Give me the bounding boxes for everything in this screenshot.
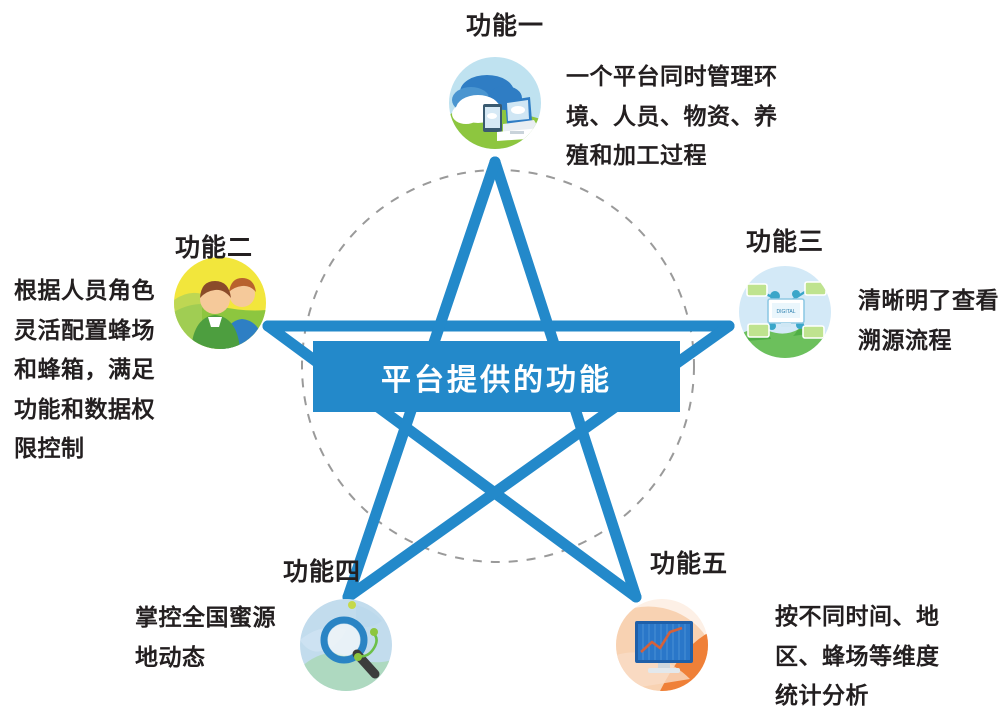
icon-feature-2	[174, 257, 266, 349]
icon-feature-5	[616, 599, 708, 691]
icon-feature-1	[449, 57, 541, 149]
feature-2-desc-line-1: 根据人员角色	[14, 271, 164, 311]
feature-3-desc-line-1: 清晰明了查看	[858, 281, 1007, 321]
feature-4-description: 掌控全国蜜源 地动态	[135, 598, 295, 677]
feature-1-desc-line-2: 境、人员、物资、养	[566, 97, 816, 137]
svg-text:DIGITAL: DIGITAL	[776, 309, 795, 315]
icon-feature-4	[300, 599, 392, 691]
feature-3-title: 功能三	[746, 230, 824, 255]
diagram-canvas: DIGITAL	[0, 0, 1007, 719]
feature-2-desc-line-2: 灵活配置蜂场	[14, 311, 164, 351]
feature-1-title: 功能一	[466, 14, 544, 39]
center-banner-label: 平台提供的功能	[313, 341, 680, 412]
feature-2-title: 功能二	[175, 236, 253, 261]
feature-4-desc-line-2: 地动态	[135, 638, 295, 678]
icon-feature-3: DIGITAL	[739, 266, 831, 358]
feature-5-title: 功能五	[650, 552, 728, 577]
feature-1-description: 一个平台同时管理环 境、人员、物资、养 殖和加工过程	[566, 57, 816, 176]
feature-2-desc-line-4: 功能和数据权	[14, 390, 164, 430]
feature-3-desc-line-2: 溯源流程	[858, 321, 1007, 361]
feature-1-desc-line-1: 一个平台同时管理环	[566, 57, 816, 97]
feature-4-desc-line-1: 掌控全国蜜源	[135, 598, 295, 638]
feature-5-desc-line-1: 按不同时间、地	[775, 597, 990, 637]
feature-2-description: 根据人员角色 灵活配置蜂场 和蜂箱，满足 功能和数据权 限控制	[14, 271, 164, 469]
feature-5-desc-line-3: 统计分析	[775, 676, 990, 716]
feature-3-description: 清晰明了查看 溯源流程	[858, 281, 1007, 360]
feature-2-desc-line-5: 限控制	[14, 429, 164, 469]
feature-2-desc-line-3: 和蜂箱，满足	[14, 350, 164, 390]
feature-1-desc-line-3: 殖和加工过程	[566, 136, 816, 176]
feature-5-description: 按不同时间、地 区、蜂场等维度 统计分析	[775, 597, 990, 716]
feature-4-title: 功能四	[283, 560, 361, 585]
feature-5-desc-line-2: 区、蜂场等维度	[775, 637, 990, 677]
